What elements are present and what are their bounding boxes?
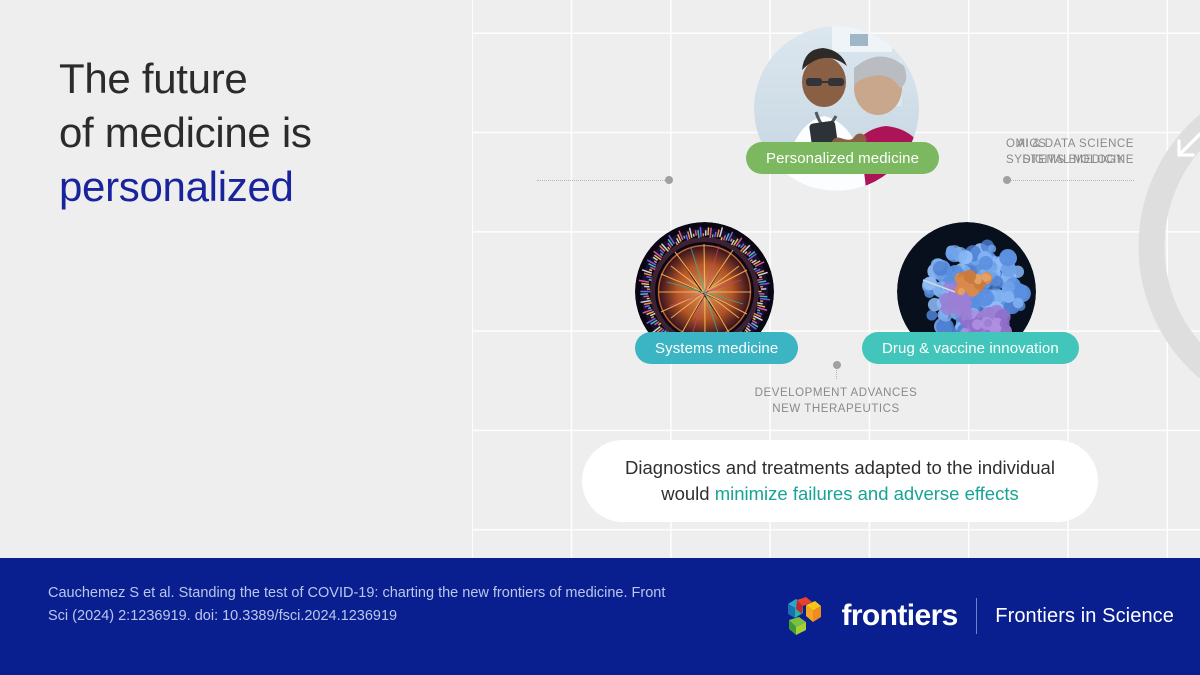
page-title: The future of medicine is personalized xyxy=(59,52,459,213)
brand-sublabel: Frontiers in Science xyxy=(995,605,1174,628)
connector-dot-bottom xyxy=(833,361,841,369)
caption-development-advances: DEVELOPMENT ADVANCES NEW THERAPEUTICS xyxy=(472,386,1200,417)
connector-line-right xyxy=(1006,180,1134,181)
node-label-personalized-medicine[interactable]: Personalized medicine xyxy=(746,142,939,174)
caption-ai-line-2: DIGITAL MEDICINE xyxy=(1017,153,1134,169)
connector-dot-left xyxy=(665,176,673,184)
brand-lockup: frontiers Frontiers in Science xyxy=(785,596,1174,636)
callout-box: Diagnostics and treatments adapted to th… xyxy=(582,440,1098,522)
footer-bar: Cauchemez S et al. Standing the test of … xyxy=(0,558,1200,675)
frontiers-logo-icon xyxy=(785,596,823,636)
caption-ai-data-science: AI & DATA SCIENCE DIGITAL MEDICINE xyxy=(1017,137,1134,168)
node-label-systems-medicine[interactable]: Systems medicine xyxy=(635,332,798,364)
headline-accent: personalized xyxy=(59,160,459,214)
headline-line-1: The future xyxy=(59,52,459,106)
callout-text-accent: minimize failures and adverse effects xyxy=(715,483,1019,504)
connector-line-left xyxy=(537,180,665,181)
caption-dev-line-1: DEVELOPMENT ADVANCES xyxy=(755,386,918,402)
headline-line-2: of medicine is xyxy=(59,106,459,160)
node-label-drug-vaccine-innovation[interactable]: Drug & vaccine innovation xyxy=(862,332,1079,364)
citation-text: Cauchemez S et al. Standing the test of … xyxy=(48,582,668,628)
slide-canvas: The future of medicine is personalized xyxy=(0,0,1200,675)
connector-dot-right xyxy=(1003,176,1011,184)
caption-dev-line-2: NEW THERAPEUTICS xyxy=(755,402,918,418)
caption-ai-line-1: AI & DATA SCIENCE xyxy=(1017,137,1134,153)
brand-divider xyxy=(976,598,978,634)
cycle-ring xyxy=(1121,56,1200,437)
frontiers-wordmark: frontiers xyxy=(841,599,957,633)
